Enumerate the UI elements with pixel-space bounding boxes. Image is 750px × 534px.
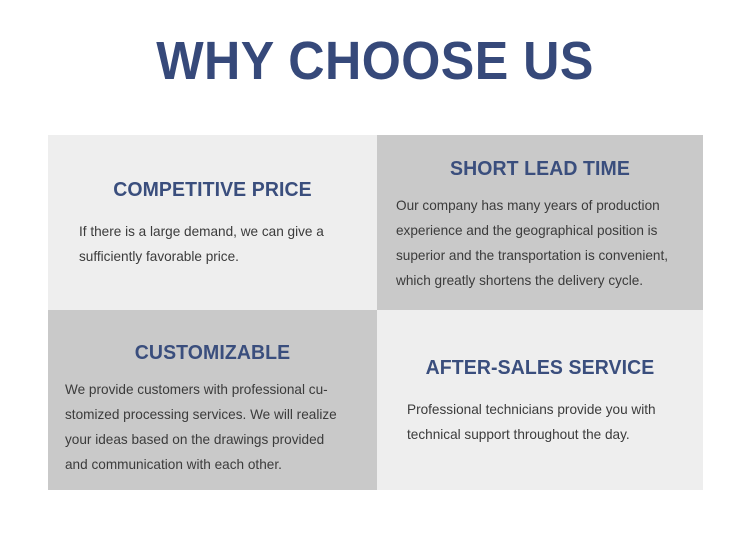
page-title: WHY CHOOSE US (26, 33, 724, 90)
feature-card-heading: COMPETITIVE PRICE (56, 178, 369, 202)
feature-card-body: Our company has many years of production… (377, 193, 703, 293)
feature-card-short-lead-time: SHORT LEAD TIME Our company has many yea… (377, 135, 703, 310)
feature-card-body: We provide customers with professional c… (48, 377, 377, 477)
feature-grid: COMPETITIVE PRICE If there is a large de… (48, 135, 703, 490)
feature-card-after-sales-service: AFTER-SALES SERVICE Professional technic… (377, 310, 703, 490)
feature-card-competitive-price: COMPETITIVE PRICE If there is a large de… (48, 135, 377, 310)
feature-card-body: Professional technicians provide you wit… (377, 397, 703, 447)
feature-card-customizable: CUSTOMIZABLE We provide customers with p… (48, 310, 377, 490)
why-choose-us-infographic: WHY CHOOSE US COMPETITIVE PRICE If there… (0, 0, 750, 534)
feature-card-heading: AFTER-SALES SERVICE (385, 356, 695, 380)
feature-card-heading: SHORT LEAD TIME (385, 157, 695, 181)
feature-card-heading: CUSTOMIZABLE (56, 341, 369, 365)
feature-card-body: If there is a large demand, we can give … (48, 219, 377, 269)
